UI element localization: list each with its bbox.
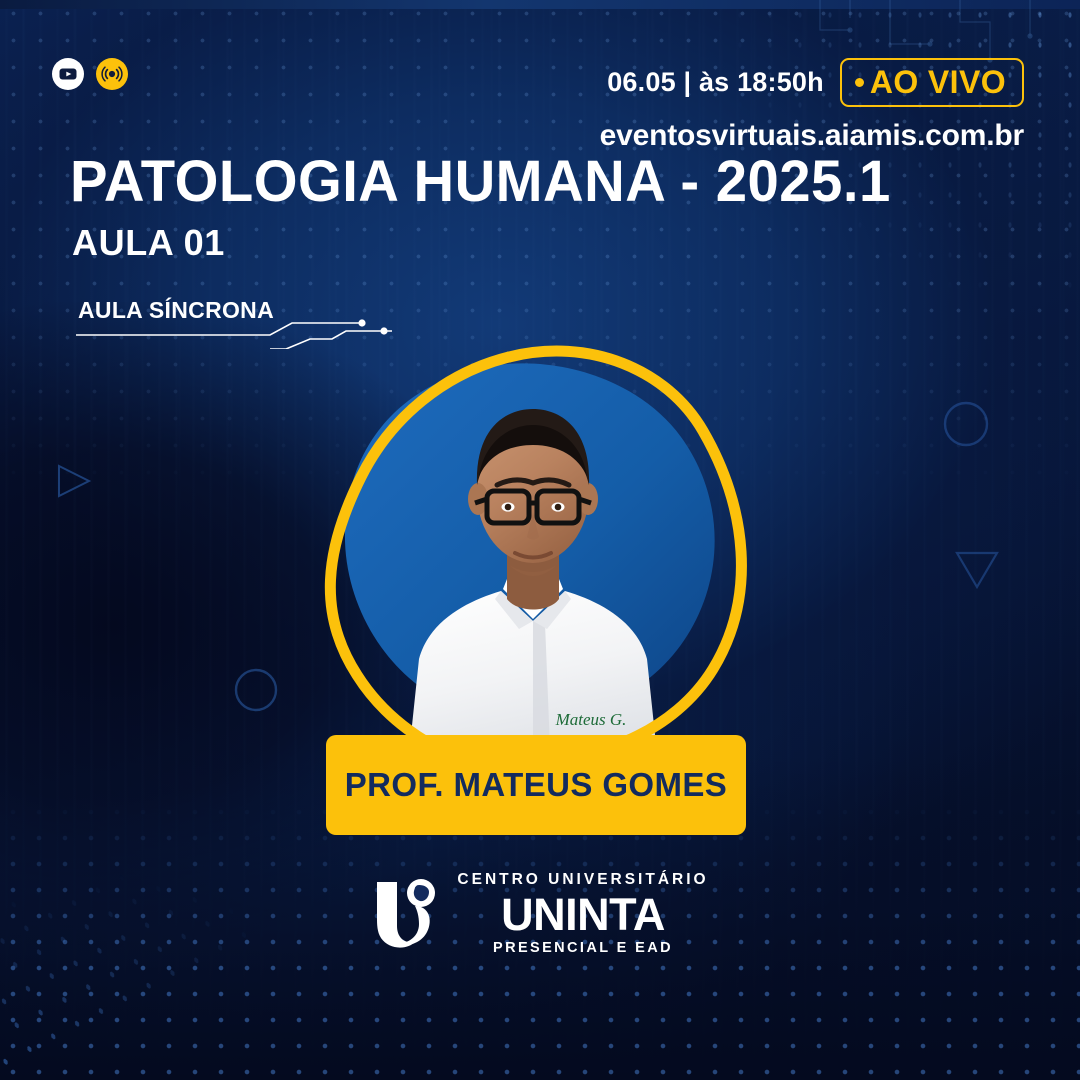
logo-tagline-bottom: PRESENCIAL E EAD [493, 941, 673, 956]
header-info: 06.05 | às 18:50h AO VIVO eventosvirtuai… [600, 58, 1024, 153]
live-broadcast-icon[interactable] [96, 58, 128, 90]
youtube-play-icon[interactable] [52, 58, 84, 90]
page-title: PATOLOGIA HUMANA - 2025.1 [70, 148, 891, 215]
logo-tagline-top: CENTRO UNIVERSITÁRIO [457, 872, 708, 888]
live-badge[interactable]: AO VIVO [840, 58, 1024, 107]
speaker-name-plate: PROF. MATEUS GOMES [326, 735, 746, 835]
uninta-logo-text: CENTRO UNIVERSITÁRIO UNINTA PRESENCIAL E… [457, 872, 708, 955]
header-icons [52, 58, 128, 90]
event-poster: 06.05 | às 18:50h AO VIVO eventosvirtuai… [0, 0, 1080, 1080]
uninta-logo: CENTRO UNIVERSITÁRIO UNINTA PRESENCIAL E… [0, 872, 1080, 955]
header-datetime-row: 06.05 | às 18:50h AO VIVO [600, 58, 1024, 107]
page-subtitle: AULA 01 [72, 222, 225, 264]
logo-name: UNINTA [501, 892, 665, 937]
event-datetime: 06.05 | às 18:50h [607, 67, 824, 98]
circuit-line-decoration [74, 297, 394, 349]
synchronous-class-tag: AULA SÍNCRONA [74, 297, 394, 349]
speaker-name: PROF. MATEUS GOMES [345, 766, 727, 804]
uninta-u-mark-icon [371, 876, 443, 952]
yellow-swoosh-outline [295, 345, 785, 795]
live-indicator-dot [855, 78, 864, 87]
live-badge-label: AO VIVO [870, 66, 1006, 98]
